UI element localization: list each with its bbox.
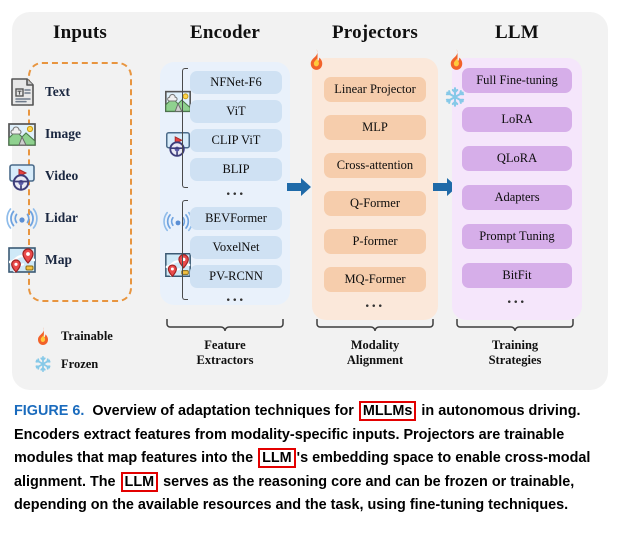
projector-pill[interactable]: MLP — [324, 115, 426, 140]
column-header-projectors: Projectors — [308, 22, 442, 44]
llm-pill[interactable]: LoRA — [462, 107, 572, 132]
input-item-text: Text — [6, 72, 102, 112]
llm-pill[interactable]: Adapters — [462, 185, 572, 210]
figure-caption: FIGURE 6. Overview of adaptation techniq… — [14, 400, 608, 518]
encoder-pill[interactable]: CLIP ViT — [190, 129, 282, 152]
encoder-pill[interactable]: NFNet-F6 — [190, 71, 282, 94]
input-item-map: Map — [6, 240, 102, 280]
brace-training-strategies — [456, 318, 574, 332]
map-pin-icon — [6, 244, 38, 276]
encoder-bracket-vision — [182, 68, 188, 188]
projectors-more-dots: ... — [324, 294, 426, 312]
landscape-image-icon — [6, 118, 38, 150]
brace-modality-alignment — [316, 318, 434, 332]
input-item-label: Lidar — [45, 210, 78, 226]
projector-pill[interactable]: Linear Projector — [324, 77, 426, 102]
snowflake-icon — [34, 354, 52, 374]
column-header-encoder: Encoder — [158, 22, 292, 44]
caption-highlight-llm-1: LLM — [258, 448, 296, 468]
encoder-pill[interactable]: BLIP — [190, 158, 282, 181]
brace-label-line1: Feature — [166, 338, 284, 353]
llm-pill[interactable]: Full Fine-tuning — [462, 68, 572, 93]
brace-label-line2: Strategies — [456, 353, 574, 368]
brace-label-line1: Training — [456, 338, 574, 353]
legend-frozen: Frozen — [34, 354, 98, 374]
legend-label: Frozen — [61, 357, 98, 372]
map-pin-icon — [163, 250, 193, 280]
encoder-pill[interactable]: ViT — [190, 100, 282, 123]
llm-more-dots: ... — [462, 290, 572, 308]
legend-label: Trainable — [61, 329, 113, 344]
flame-icon — [34, 326, 52, 346]
caption-part-1: Overview of adaptation techniques for — [92, 403, 357, 419]
caption-highlight-llm-2: LLM — [121, 472, 159, 492]
encoder-bracket-sensor — [182, 200, 188, 300]
input-item-lidar: Lidar — [6, 198, 102, 238]
brace-feature-extractors — [166, 318, 284, 332]
document-text-icon — [6, 76, 38, 108]
projector-pill[interactable]: P-former — [324, 229, 426, 254]
input-item-label: Text — [45, 84, 70, 100]
llm-pill[interactable]: Prompt Tuning — [462, 224, 572, 249]
lidar-waves-icon — [6, 202, 38, 234]
legend-trainable: Trainable — [34, 326, 113, 346]
encoder-pill[interactable]: VoxelNet — [190, 236, 282, 259]
brace-label-line2: Alignment — [316, 353, 434, 368]
input-item-video: Video — [6, 156, 102, 196]
encoder-pill[interactable]: PV-RCNN — [190, 265, 282, 288]
encoder-more-dots-sensor: ... — [190, 288, 282, 306]
encoder-more-dots-vision: ... — [190, 182, 282, 200]
projector-pill[interactable]: MQ-Former — [324, 267, 426, 292]
llm-pill[interactable]: BitFit — [462, 263, 572, 288]
column-header-llm: LLM — [452, 22, 582, 44]
column-header-inputs: Inputs — [28, 22, 132, 44]
brace-label-modality-alignment: Modality Alignment — [316, 338, 434, 368]
brace-label-training-strategies: Training Strategies — [456, 338, 574, 368]
input-item-image: Image — [6, 114, 102, 154]
input-item-label: Map — [45, 252, 72, 268]
encoder-pill[interactable]: BEVFormer — [190, 207, 282, 230]
brace-label-feature-extractors: Feature Extractors — [166, 338, 284, 368]
caption-highlight-mllms: MLLMs — [359, 401, 417, 421]
lidar-waves-icon — [163, 206, 193, 236]
brace-label-line2: Extractors — [166, 353, 284, 368]
flame-icon — [306, 48, 328, 72]
landscape-image-icon — [163, 86, 193, 116]
brace-label-line1: Modality — [316, 338, 434, 353]
arrow-encoder-to-projectors — [286, 176, 312, 198]
projector-pill[interactable]: Q-Former — [324, 191, 426, 216]
video-steering-wheel-icon — [6, 160, 38, 192]
input-item-label: Video — [45, 168, 78, 184]
figure-page: Inputs Encoder Projectors LLM Text — [0, 0, 620, 546]
figure-number: FIGURE 6. — [14, 403, 84, 419]
input-item-label: Image — [45, 126, 81, 142]
video-steering-wheel-icon — [163, 128, 193, 158]
llm-pill[interactable]: QLoRA — [462, 146, 572, 171]
projector-pill[interactable]: Cross-attention — [324, 153, 426, 178]
